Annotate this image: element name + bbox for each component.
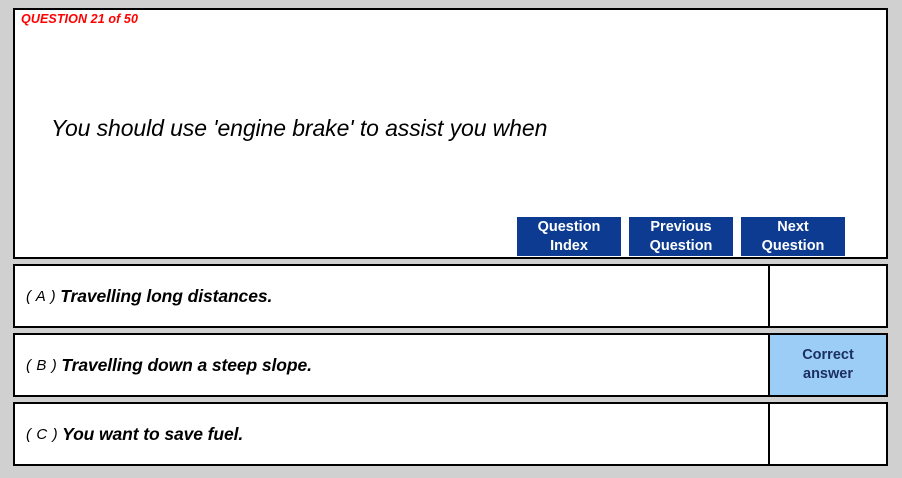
answer-option-a-letter: ( A ) (26, 288, 56, 305)
question-index-button-line2: Index (550, 237, 588, 256)
answer-option-c-letter: ( C ) (26, 426, 58, 443)
question-panel: QUESTION 21 of 50 You should use 'engine… (13, 8, 888, 259)
previous-question-button-line2: Question (650, 237, 713, 256)
answer-option-a-marker (770, 266, 886, 326)
answer-option-a[interactable]: ( A ) Travelling long distances. (13, 264, 888, 328)
correct-answer-badge-line2: answer (802, 365, 854, 384)
navigation-button-row: Question Index Previous Question Next Qu… (517, 217, 845, 256)
correct-answer-badge: Correct answer (802, 346, 854, 384)
next-question-button-line2: Question (762, 237, 825, 256)
next-question-button-line1: Next (777, 218, 808, 237)
answer-option-b-text: Travelling down a steep slope. (61, 355, 312, 376)
answer-option-c-text: You want to save fuel. (62, 424, 243, 445)
question-text: You should use 'engine brake' to assist … (51, 115, 547, 142)
answer-option-c-marker (770, 404, 886, 464)
question-counter: QUESTION 21 of 50 (21, 12, 138, 26)
quiz-screen: QUESTION 21 of 50 You should use 'engine… (0, 0, 902, 478)
answer-option-a-content[interactable]: ( A ) Travelling long distances. (15, 266, 770, 326)
previous-question-button[interactable]: Previous Question (629, 217, 733, 256)
correct-answer-badge-line1: Correct (802, 346, 854, 365)
answer-option-a-text: Travelling long distances. (60, 286, 272, 307)
answer-option-c[interactable]: ( C ) You want to save fuel. (13, 402, 888, 466)
question-index-button[interactable]: Question Index (517, 217, 621, 256)
previous-question-button-line1: Previous (650, 218, 711, 237)
question-index-button-line1: Question (538, 218, 601, 237)
answer-option-b[interactable]: ( B ) Travelling down a steep slope. Cor… (13, 333, 888, 397)
answer-option-c-content[interactable]: ( C ) You want to save fuel. (15, 404, 770, 464)
answer-option-b-content[interactable]: ( B ) Travelling down a steep slope. (15, 335, 770, 395)
answer-option-b-marker: Correct answer (770, 335, 886, 395)
next-question-button[interactable]: Next Question (741, 217, 845, 256)
answer-option-b-letter: ( B ) (26, 357, 57, 374)
